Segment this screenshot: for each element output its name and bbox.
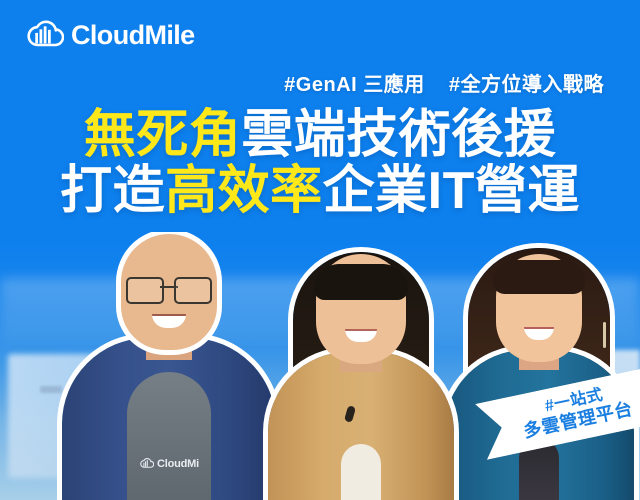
tshirt-logo-text: CloudMi — [157, 458, 199, 470]
page-title: 無死角雲端技術後援 打造高效率企業IT營運 — [0, 108, 640, 219]
woman-right-fringe — [493, 260, 585, 294]
person-man-left: CloudMi — [62, 238, 276, 500]
team-photo: CloudMi — [0, 232, 640, 500]
hashtag-genai: #GenAI 三應用 — [284, 74, 425, 96]
glasses-lens-left — [126, 277, 164, 304]
headline-line-1: 無死角雲端技術後援 — [0, 108, 640, 164]
headline-start-2: 打造 — [60, 162, 165, 220]
cloud-bars-logo-icon — [24, 18, 64, 52]
brand-logo[interactable]: CloudMile — [24, 18, 195, 52]
person-woman-middle — [268, 242, 454, 500]
man-blazer: CloudMi — [62, 338, 276, 500]
woman-middle-blazer — [268, 352, 454, 500]
brand-name: CloudMile — [71, 22, 195, 49]
man-tshirt: CloudMi — [127, 372, 211, 500]
cloud-bars-logo-icon — [139, 457, 154, 470]
earring-icon — [603, 322, 606, 348]
person-woman-right — [444, 242, 634, 500]
headline-rest-1: 雲端技術後援 — [241, 106, 556, 164]
headline-rest-2: 企業IT營運 — [323, 162, 580, 220]
hashtag-row: #GenAI 三應用 #全方位導入戰略 — [284, 68, 604, 97]
hashtag-strategy: #全方位導入戰略 — [449, 74, 604, 96]
cloudmile-promo-banner: CloudMile #GenAI 三應用 #全方位導入戰略 無死角雲端技術後援 … — [0, 0, 640, 500]
woman-middle-fringe — [314, 264, 408, 300]
glasses-lens-right — [174, 277, 212, 304]
glasses-icon — [126, 277, 212, 300]
tshirt-logo: CloudMi — [139, 457, 199, 470]
background-panel-detail — [40, 386, 62, 393]
headline-highlight-2: 高效率 — [165, 162, 323, 220]
headline-line-2: 打造高效率企業IT營運 — [0, 164, 640, 220]
headline-highlight-1: 無死角 — [84, 106, 242, 164]
woman-middle-inner-top — [341, 444, 381, 500]
